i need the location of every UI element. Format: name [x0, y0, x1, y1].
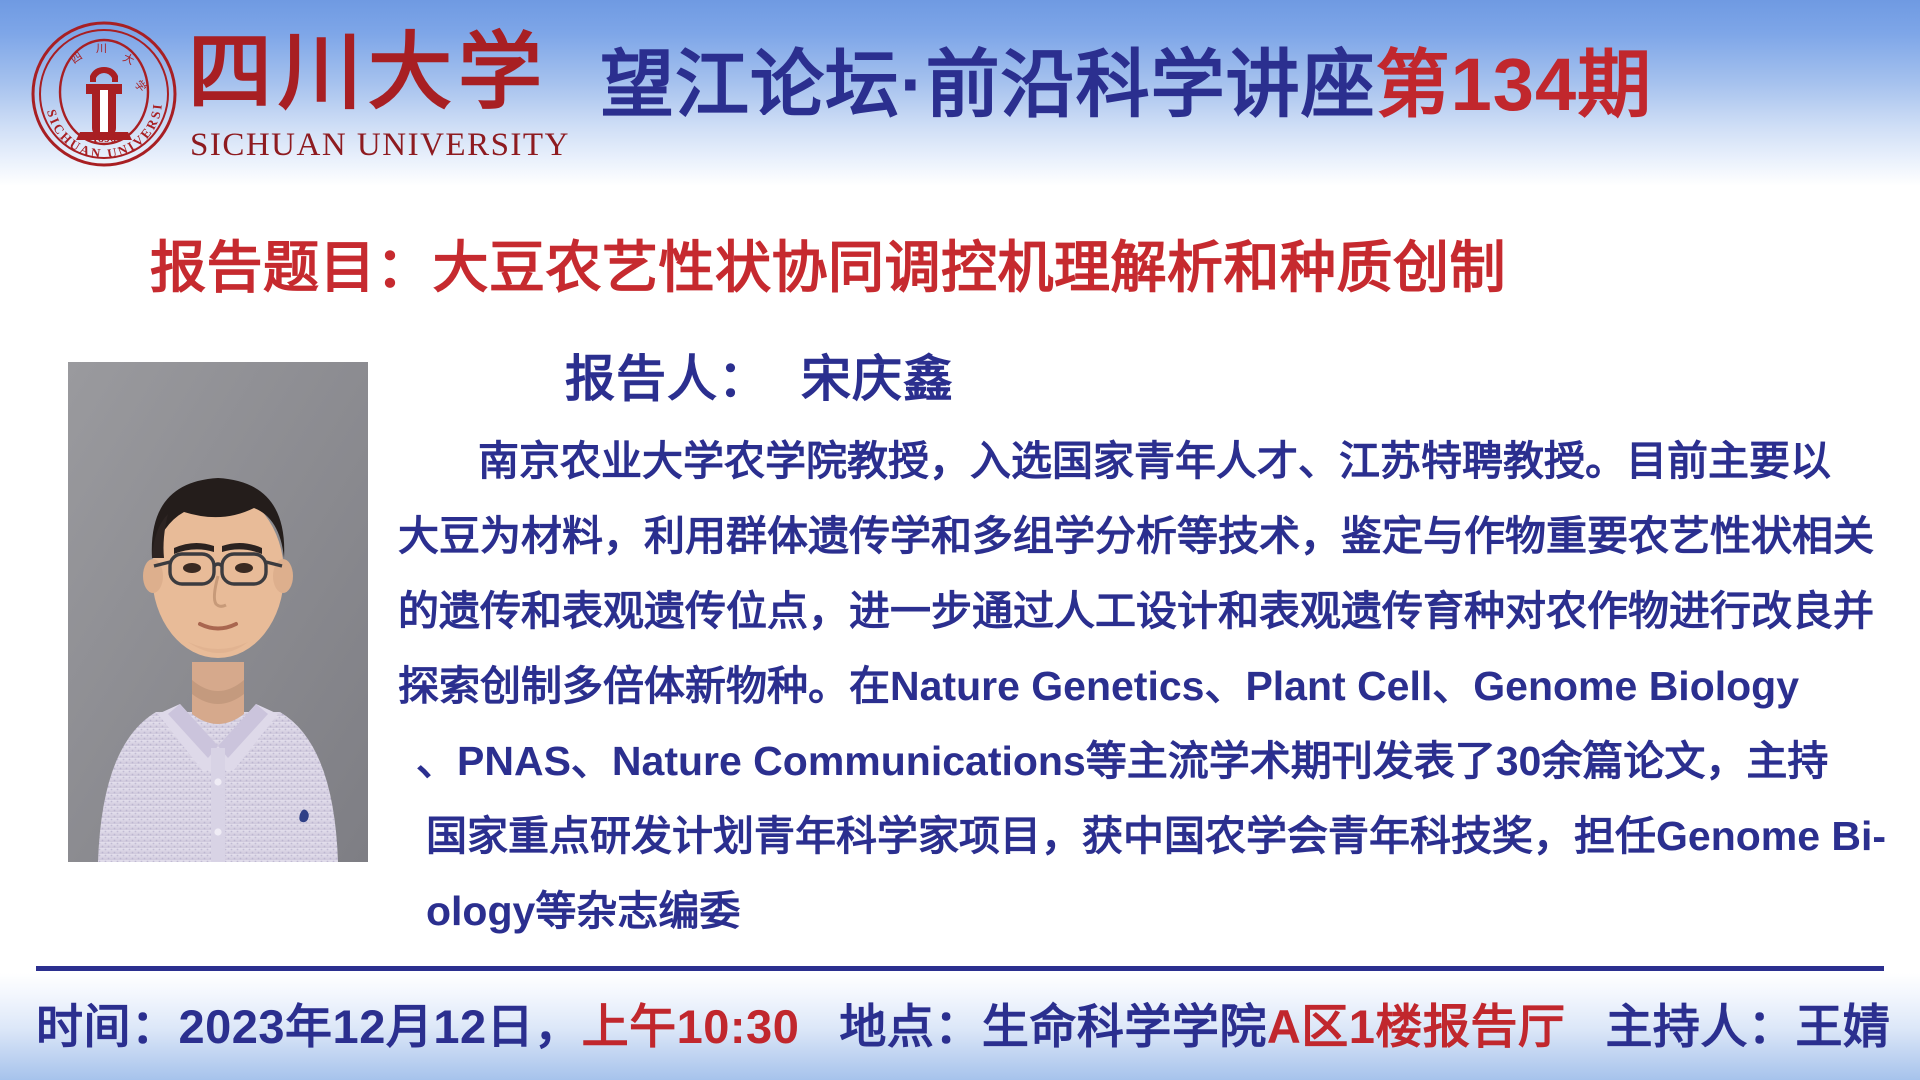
bio-line: 南京农业大学农学院教授，入选国家青年人才、江苏特聘教授。目前主要以 [398, 424, 1798, 499]
lecture-poster: 四 川 大 学 1896 SICHUAN UNIVERSITY 四川大学 SIC… [0, 0, 1920, 1080]
svg-text:川: 川 [96, 42, 107, 55]
sichuan-university-seal-icon: 四 川 大 学 1896 SICHUAN UNIVERSITY [30, 20, 178, 168]
bio-line: 的遗传和表观遗传位点，进一步通过人工设计和表观遗传育种对农作物进行改良并 [398, 574, 1798, 649]
host-name: 王婧 [1795, 1000, 1890, 1053]
university-chinese-name: 四川大学 [188, 22, 578, 126]
speaker-line: 报告人：宋庆鑫 [565, 348, 1465, 410]
time-clock: 上午10:30 [582, 1000, 800, 1053]
university-english-name: SICHUAN UNIVERSITY [190, 126, 580, 164]
place-main: 生命科学学院 [982, 1000, 1267, 1053]
speaker-portrait [68, 362, 368, 862]
bio-line: ology等杂志编委 [398, 874, 1798, 949]
speaker-label: 报告人： [565, 351, 769, 407]
university-wordmark: 四川大学 SICHUAN UNIVERSITY [188, 22, 578, 172]
talk-title: 报告题目：大豆农艺性状协同调控机理解析和种质创制 [150, 232, 1890, 304]
footer-divider [36, 966, 1884, 971]
host-label: 主持人： [1605, 1000, 1795, 1053]
footer-details: 时间：2023年12月12日，上午10:30地点：生命科学学院A区1楼报告厅主持… [0, 998, 1890, 1056]
university-logo-group: 四 川 大 学 1896 SICHUAN UNIVERSITY 四川大学 SIC… [18, 14, 578, 174]
place-room: A区1楼报告厅 [1267, 1000, 1566, 1053]
series-headline-issue: 第134期 [1376, 38, 1652, 132]
time-date: 2023年12月12日， [179, 1000, 582, 1053]
series-headline-blue: 望江论坛·前沿科学讲座 [600, 38, 1376, 132]
speaker-name: 宋庆鑫 [801, 351, 954, 407]
bio-line: 国家重点研发计划青年科学家项目，获中国农学会青年科技奖，担任Genome Bi- [398, 799, 1798, 874]
series-headline: 望江论坛·前沿科学讲座第134期 [600, 30, 1890, 140]
svg-text:四: 四 [68, 50, 84, 67]
bio-line: 、PNAS、Nature Communications等主流学术期刊发表了30余… [398, 724, 1798, 799]
time-label: 时间： [36, 1000, 179, 1053]
bio-line: 探索创制多倍体新物种。在Nature Genetics、Plant Cell、G… [398, 649, 1798, 724]
bio-line: 大豆为材料，利用群体遗传学和多组学分析等技术，鉴定与作物重要农艺性状相关 [398, 499, 1798, 574]
place-label: 地点： [839, 1000, 982, 1053]
seal-year-text: 1896 [92, 131, 116, 145]
speaker-bio: 南京农业大学农学院教授，入选国家青年人才、江苏特聘教授。目前主要以 大豆为材料，… [398, 424, 1798, 949]
footer-bar: 时间：2023年12月12日，上午10:30地点：生命科学学院A区1楼报告厅主持… [0, 973, 1920, 1080]
